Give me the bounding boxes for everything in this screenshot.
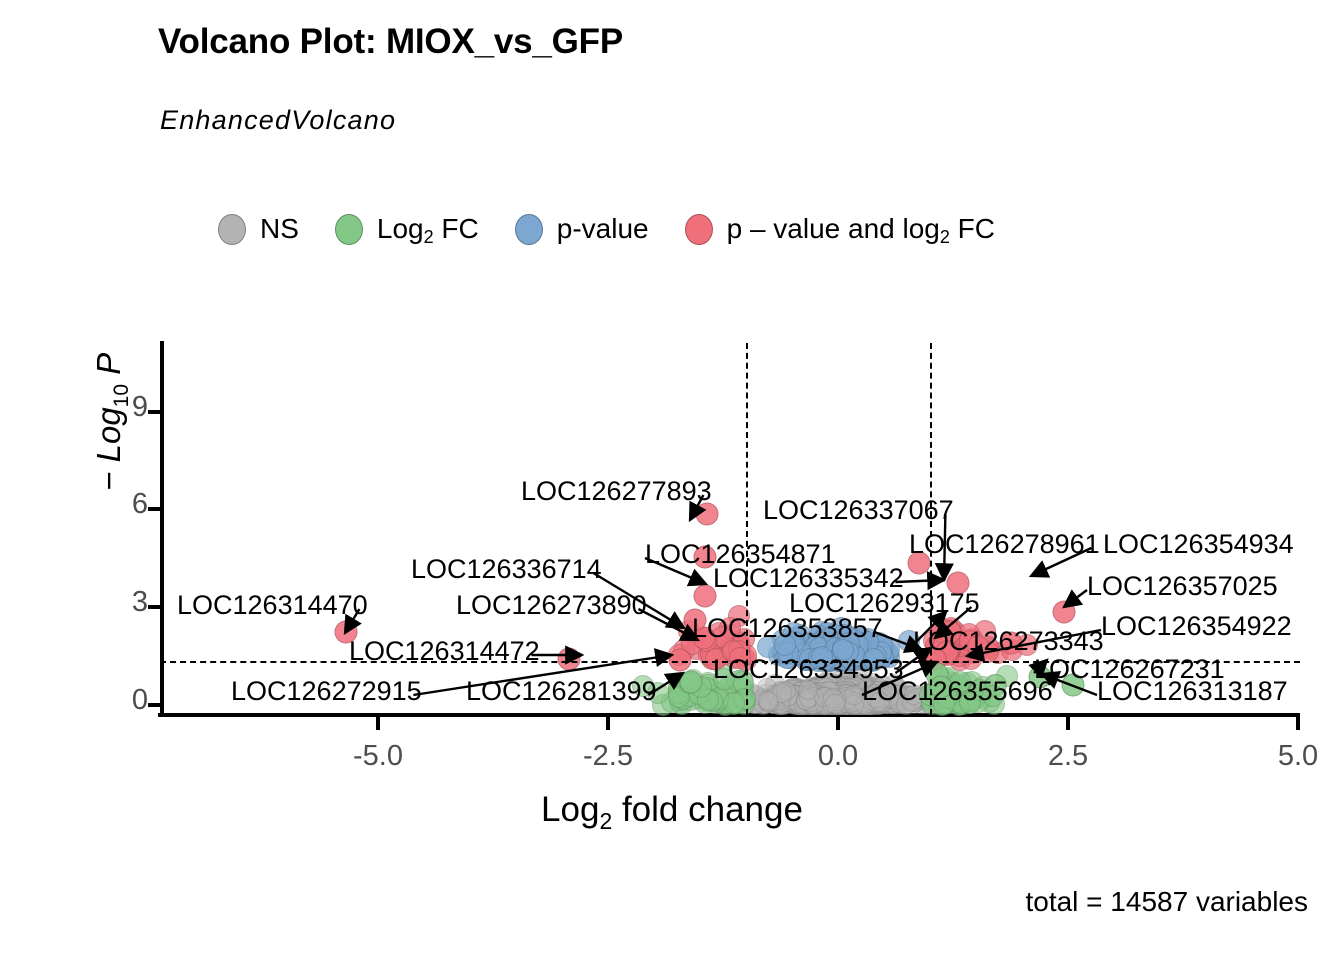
gene-label-loc126277893: LOC126277893 (521, 476, 712, 507)
legend: NS Log2 FC p-value p – value and log2 FC (218, 205, 1031, 253)
gene-label-loc126336714: LOC126336714 (411, 554, 602, 585)
legend-item-ns[interactable]: NS (218, 213, 299, 245)
y-tick-2 (148, 507, 160, 511)
gene-label-loc126272915: LOC126272915 (231, 676, 422, 707)
gene-label-loc126337067: LOC126337067 (763, 495, 954, 526)
y-tick-0 (148, 703, 160, 707)
scatter-point (1053, 601, 1076, 624)
legend-label-ns: NS (260, 213, 299, 245)
legend-swatch-pvalue (515, 214, 543, 245)
legend-item-log2fc[interactable]: Log2 FC (335, 213, 479, 245)
y-tick-label-0: 0 (132, 684, 148, 717)
y-tick-1 (148, 605, 160, 609)
scatter-point (679, 670, 702, 693)
gene-label-loc126354922: LOC126354922 (1101, 611, 1292, 642)
scatter-point (558, 647, 581, 670)
x-tick-0 (376, 717, 380, 730)
x-tick-1 (606, 717, 610, 730)
y-tick-label-3: 9 (132, 391, 148, 424)
x-tick-2 (836, 717, 840, 730)
gene-label-loc126314470: LOC126314470 (177, 590, 368, 621)
legend-swatch-log2fc (335, 214, 363, 245)
x-tick-label-4: 5.0 (1278, 740, 1318, 773)
x-tick-3 (1066, 717, 1070, 730)
legend-label-pvalue: p-value (557, 213, 649, 245)
scatter-point (723, 692, 745, 714)
legend-label-log2fc: Log2 FC (377, 213, 479, 245)
legend-swatch-pvalue-log2fc (685, 214, 713, 245)
gene-label-loc126354934: LOC126354934 (1103, 529, 1294, 560)
gene-label-loc126314472: LOC126314472 (349, 636, 540, 667)
y-axis-label: − Log10 P (90, 292, 134, 552)
x-tick-label-2: 0.0 (818, 740, 858, 773)
gene-label-loc126355696: LOC126355696 (862, 676, 1053, 707)
gene-label-loc126313187: LOC126313187 (1097, 676, 1288, 707)
y-tick-3 (148, 410, 160, 414)
scatter-point (758, 691, 778, 711)
legend-label-pvalue-and-log2fc: p – value and log2 FC (727, 213, 995, 245)
page-title: Volcano Plot: MIOX_vs_GFP (158, 22, 623, 62)
x-tick-label-0: -5.0 (353, 740, 403, 773)
gene-label-loc126353857: LOC126353857 (692, 613, 883, 644)
total-variables-caption: total = 14587 variables (1025, 886, 1308, 918)
gene-label-loc126357025: LOC126357025 (1087, 571, 1278, 602)
y-tick-label-2: 6 (132, 488, 148, 521)
scatter-point (825, 694, 845, 714)
subtitle: EnhancedVolcano (160, 105, 396, 136)
x-tick-label-1: -2.5 (583, 740, 633, 773)
y-tick-label-1: 3 (132, 586, 148, 619)
gene-label-loc126273343: LOC126273343 (913, 626, 1104, 657)
gene-label-loc126273890: LOC126273890 (456, 590, 647, 621)
legend-item-pvalue[interactable]: p-value (515, 213, 649, 245)
legend-item-pvalue-and-log2fc[interactable]: p – value and log2 FC (685, 213, 995, 245)
x-tick-4 (1296, 717, 1300, 730)
gene-label-loc126278961: LOC126278961 (909, 529, 1100, 560)
legend-swatch-ns (218, 214, 246, 245)
gene-label-loc126281399: LOC126281399 (466, 676, 657, 707)
x-axis-label: Log2 fold change (0, 790, 1344, 835)
x-tick-label-3: 2.5 (1048, 740, 1088, 773)
